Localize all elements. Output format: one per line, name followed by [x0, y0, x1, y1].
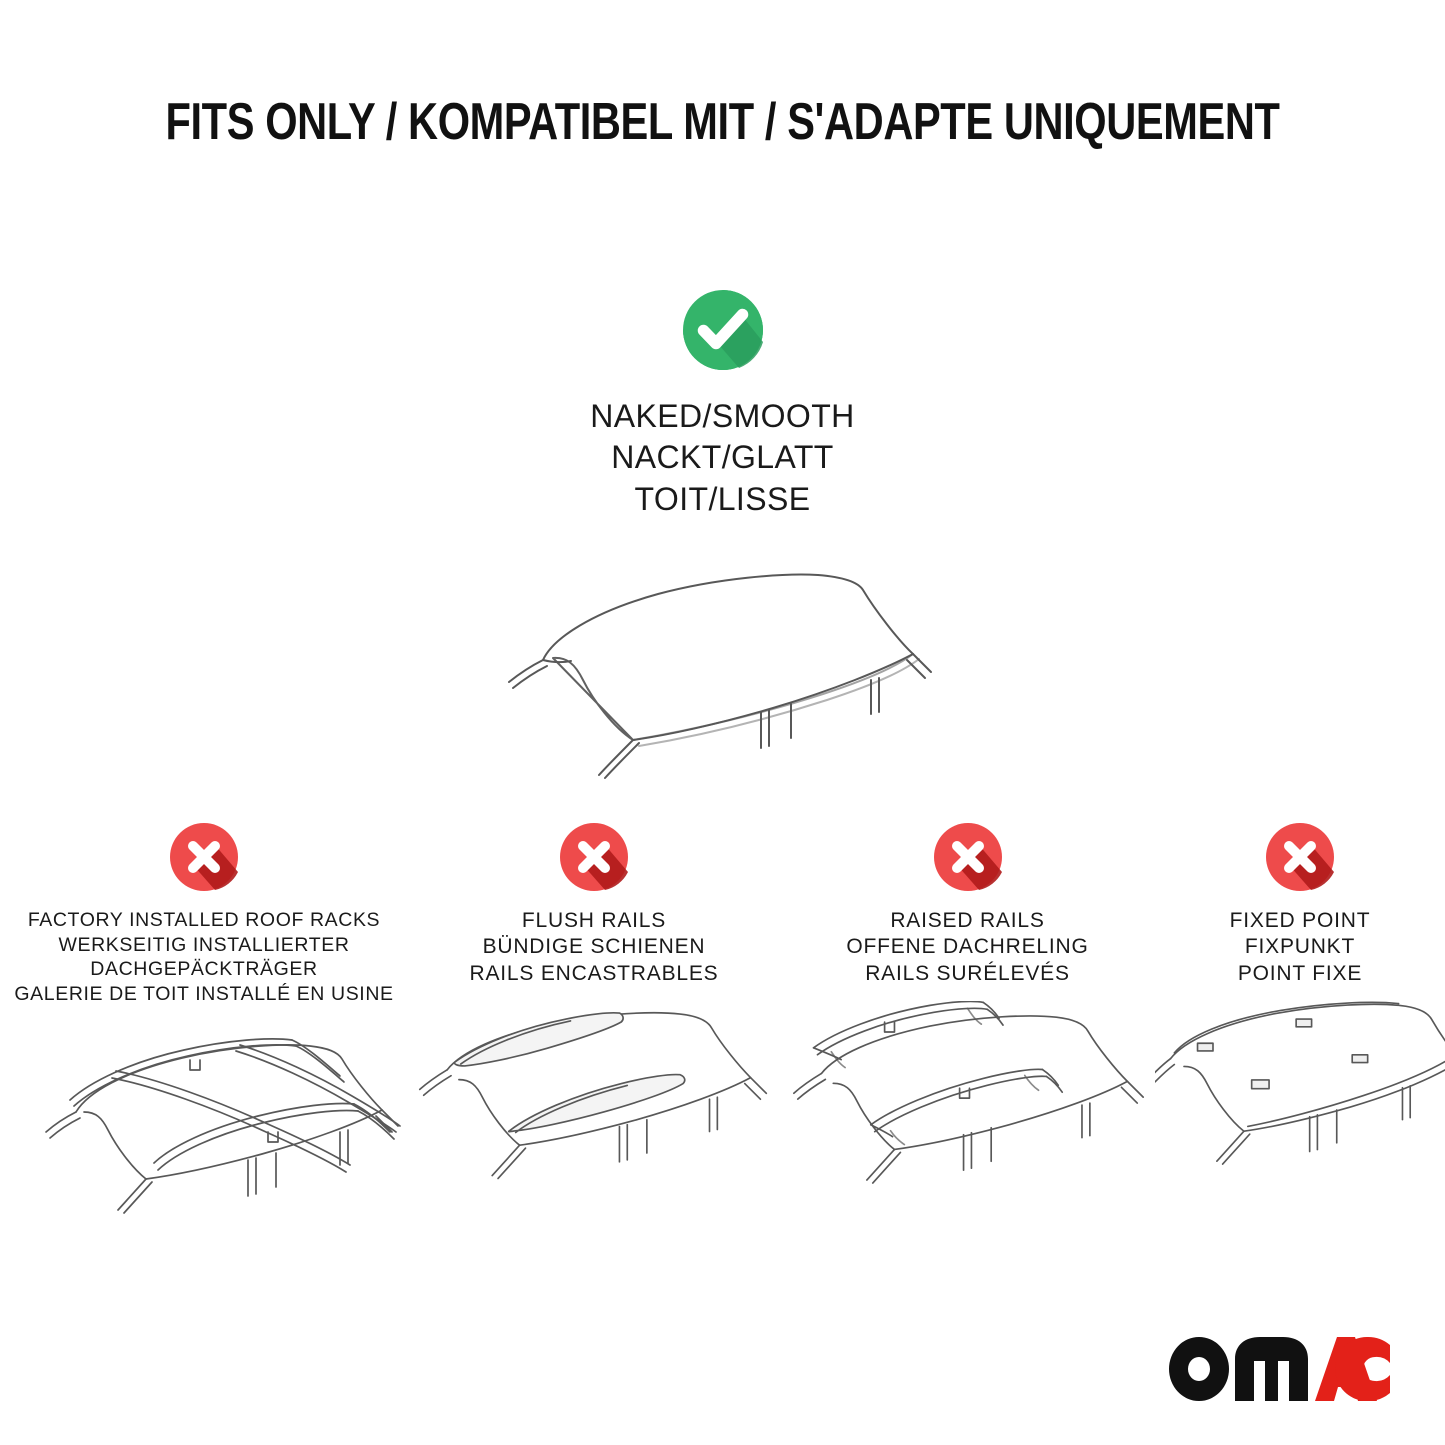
- incompatible-item-factory-roof-racks: FACTORY INSTALLED ROOF RACKS WERKSEITIG …: [0, 818, 408, 1235]
- omac-logo-letter-m: [1235, 1337, 1308, 1401]
- page-header: FITS ONLY / KOMPATIBEL MIT / S'ADAPTE UN…: [0, 96, 1445, 148]
- car-roof-flush-rails-illustration: [408, 1001, 780, 1216]
- incompatible-caption-factory-roof-racks: FACTORY INSTALLED ROOF RACKS WERKSEITIG …: [14, 908, 393, 1006]
- approved-caption-line-3: TOIT/LISSE: [0, 479, 1445, 520]
- cross-circle-icon: [555, 818, 633, 896]
- incompatible-caption-flush-rails: FLUSH RAILS BÜNDIGE SCHIENEN RAILS ENCAS…: [470, 908, 719, 987]
- caption-line-3: DACHGEPÄCKTRÄGER: [14, 957, 393, 982]
- caption-line-2: BÜNDIGE SCHIENEN: [470, 934, 719, 960]
- caption-line-3: RAILS SURÉLEVÉS: [846, 961, 1088, 987]
- approved-roof-type-section: NAKED/SMOOTH NACKT/GLATT TOIT/LISSE: [0, 284, 1445, 782]
- incompatible-caption-fixed-point: FIXED POINT FIXPUNKT POINT FIXE: [1230, 908, 1371, 987]
- cross-circle-icon: [1261, 818, 1339, 896]
- omac-logo: OMAC: [1165, 1333, 1390, 1405]
- caption-line-4: GALERIE DE TOIT INSTALLÉ EN USINE: [14, 982, 393, 1007]
- page-title: FITS ONLY / KOMPATIBEL MIT / S'ADAPTE UN…: [145, 96, 1301, 148]
- caption-line-1: FACTORY INSTALLED ROOF RACKS: [14, 908, 393, 933]
- omac-logo-letter-o: [1169, 1337, 1229, 1401]
- caption-line-1: RAISED RAILS: [846, 908, 1088, 934]
- caption-line-1: FLUSH RAILS: [470, 908, 719, 934]
- caption-line-3: POINT FIXE: [1230, 961, 1371, 987]
- car-roof-factory-roof-racks-illustration: [0, 1020, 408, 1235]
- caption-line-2: FIXPUNKT: [1230, 934, 1371, 960]
- incompatible-roof-types-row: FACTORY INSTALLED ROOF RACKS WERKSEITIG …: [0, 818, 1445, 1235]
- caption-line-3: RAILS ENCASTRABLES: [470, 961, 719, 987]
- car-roof-naked-smooth-illustration: [443, 542, 1003, 782]
- incompatible-item-fixed-point: FIXED POINT FIXPUNKT POINT FIXE: [1155, 818, 1445, 1216]
- approved-caption-line-2: NACKT/GLATT: [0, 437, 1445, 478]
- incompatible-item-raised-rails: RAISED RAILS OFFENE DACHRELING RAILS SUR…: [780, 818, 1155, 1216]
- incompatible-item-flush-rails: FLUSH RAILS BÜNDIGE SCHIENEN RAILS ENCAS…: [408, 818, 780, 1216]
- check-circle-icon: [677, 284, 769, 376]
- caption-line-1: FIXED POINT: [1230, 908, 1371, 934]
- approved-caption: NAKED/SMOOTH NACKT/GLATT TOIT/LISSE: [0, 396, 1445, 520]
- car-roof-fixed-point-illustration: [1155, 1001, 1445, 1216]
- caption-line-2: OFFENE DACHRELING: [846, 934, 1088, 960]
- car-roof-raised-rails-illustration: [780, 1001, 1155, 1216]
- caption-line-2: WERKSEITIG INSTALLIERTER: [14, 933, 393, 958]
- cross-circle-icon: [929, 818, 1007, 896]
- cross-circle-icon: [165, 818, 243, 896]
- approved-caption-line-1: NAKED/SMOOTH: [0, 396, 1445, 437]
- incompatible-caption-raised-rails: RAISED RAILS OFFENE DACHRELING RAILS SUR…: [846, 908, 1088, 987]
